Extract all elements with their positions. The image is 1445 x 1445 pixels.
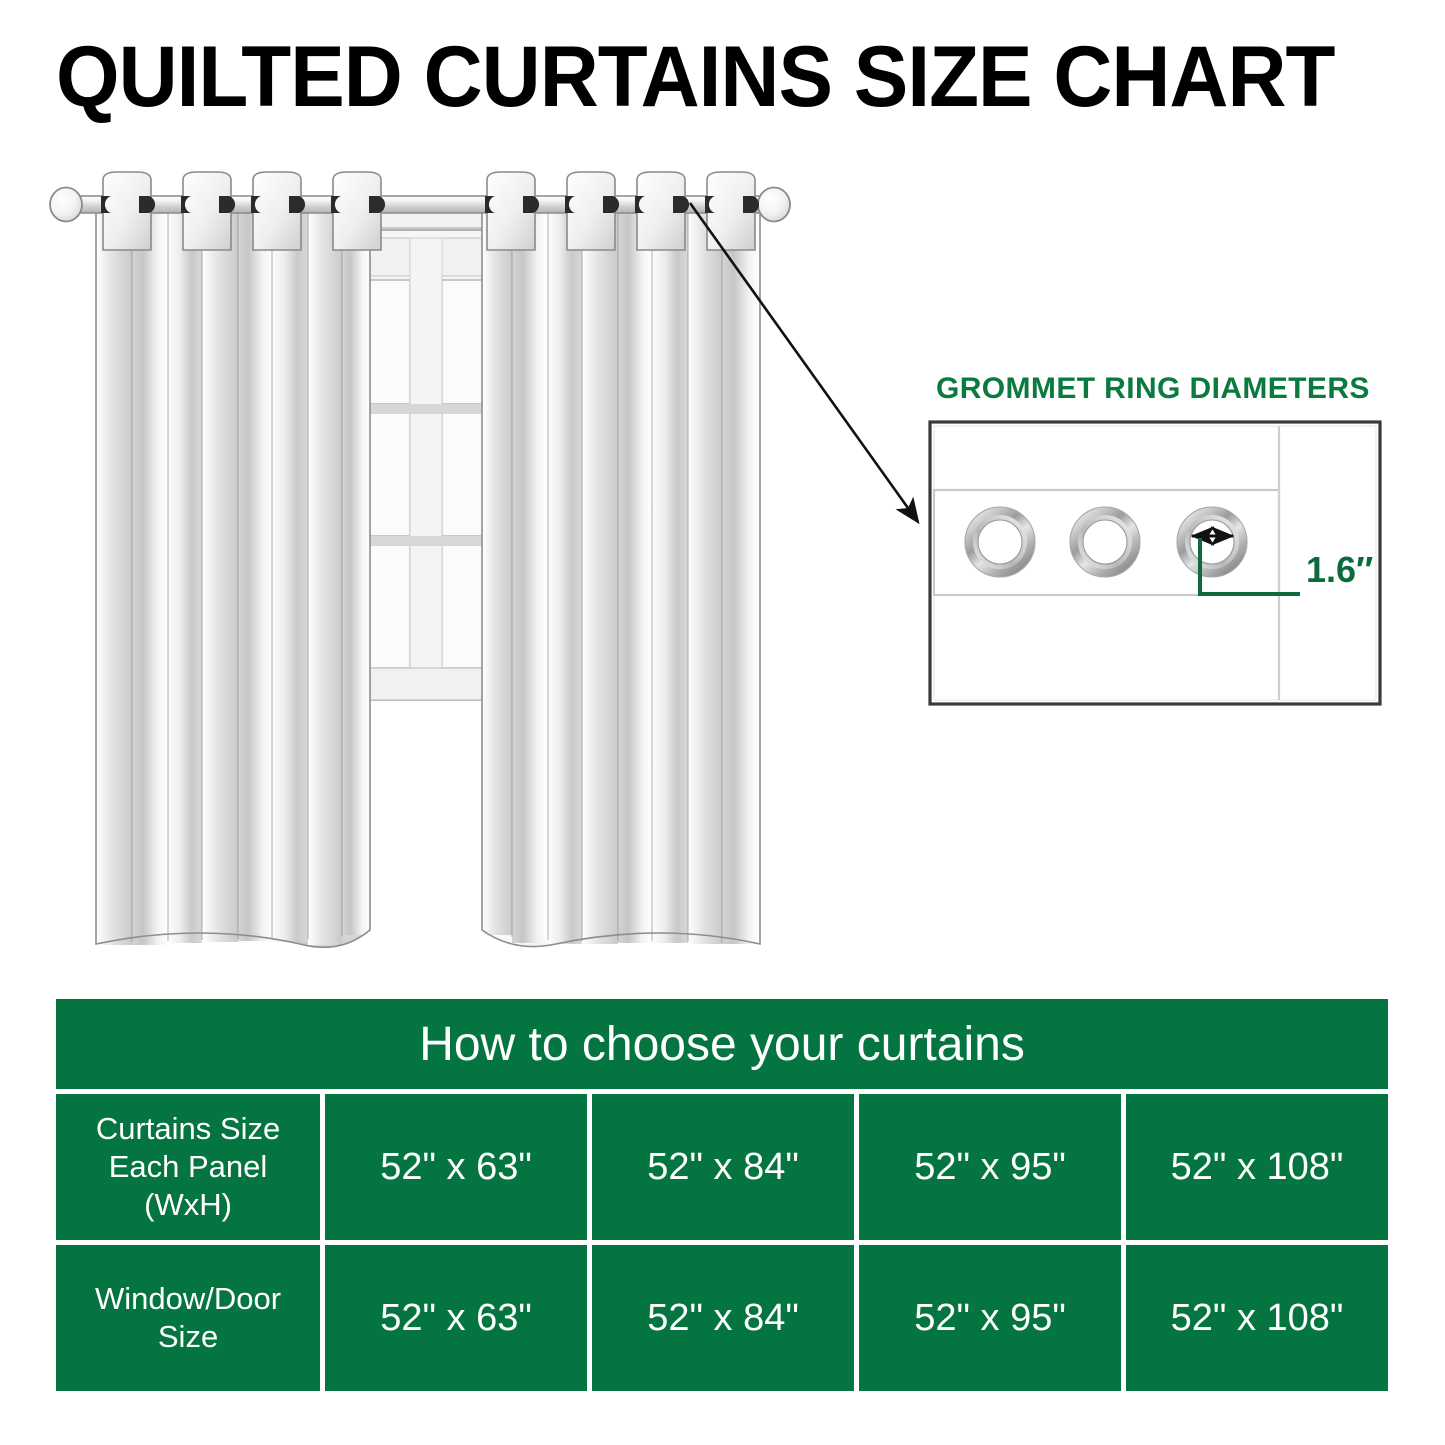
page-title: QUILTED CURTAINS SIZE CHART <box>56 34 1329 120</box>
row-label-curtains-size: Curtains Size Each Panel (WxH) <box>56 1094 320 1240</box>
table-cell: 52" x 95" <box>859 1094 1121 1240</box>
table-title: How to choose your curtains <box>56 999 1388 1089</box>
row-label-line: Window/Door <box>95 1281 281 1316</box>
table-row: Curtains Size Each Panel (WxH) 52" x 63"… <box>56 1094 1388 1240</box>
size-chart-page: QUILTED CURTAINS SIZE CHART <box>0 0 1445 1445</box>
curtain-panel-left <box>96 205 370 947</box>
grommet-diameter-label: 1.6″ <box>1306 549 1373 591</box>
table-row: Window/Door Size 52" x 63" 52" x 84" 52"… <box>56 1245 1388 1391</box>
grommet-ring-1 <box>965 507 1035 577</box>
row-label-line: (WxH) <box>144 1187 232 1222</box>
table-cell: 52" x 108" <box>1126 1245 1388 1391</box>
row-label-line: Each Panel <box>109 1149 268 1184</box>
window-graphic <box>352 212 500 700</box>
table-cell: 52" x 84" <box>592 1094 854 1240</box>
row-label-window-door-size: Window/Door Size <box>56 1245 320 1391</box>
table-cell: 52" x 63" <box>325 1094 587 1240</box>
grommet-ring-3 <box>1177 507 1247 577</box>
table-cell: 52" x 63" <box>325 1245 587 1391</box>
finial-right-icon <box>758 188 790 222</box>
grommet-section-heading: GROMMET RING DIAMETERS <box>936 372 1406 406</box>
table-cell: 52" x 95" <box>859 1245 1121 1391</box>
finial-left-icon <box>50 188 82 222</box>
curtain-panel-right <box>482 205 760 947</box>
row-label-line: Size <box>158 1319 218 1354</box>
table-cell: 52" x 108" <box>1126 1094 1388 1240</box>
grommet-ring-2 <box>1070 507 1140 577</box>
size-table: How to choose your curtains Curtains Siz… <box>56 999 1388 1391</box>
curtain-illustration <box>0 160 1445 990</box>
table-cell: 52" x 84" <box>592 1245 854 1391</box>
row-label-line: Curtains Size <box>96 1111 280 1146</box>
